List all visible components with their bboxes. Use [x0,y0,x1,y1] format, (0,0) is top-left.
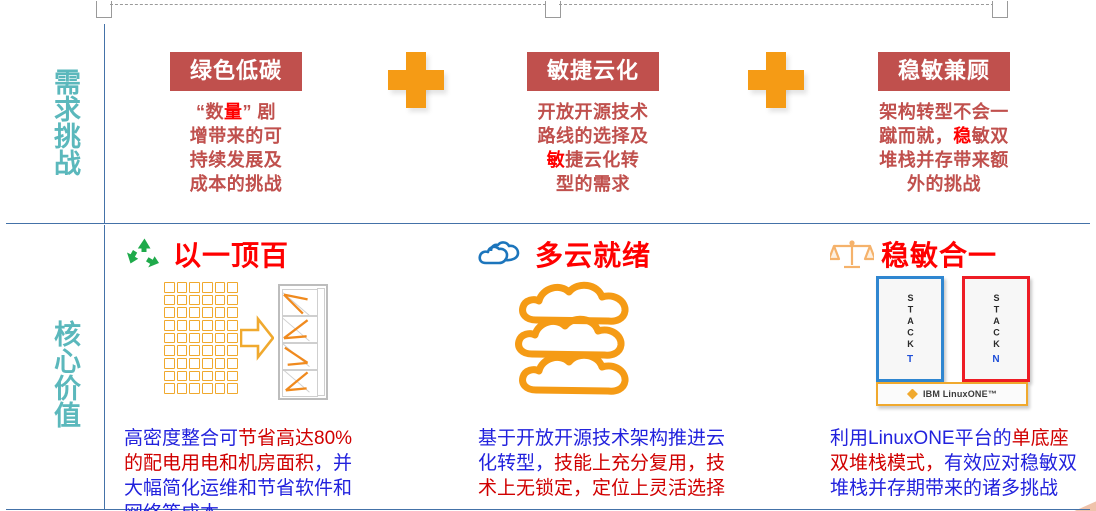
challenge-text-segment: ” 剧 [242,102,276,122]
section-divider-horizontal [6,223,1090,224]
server-unit [202,307,213,318]
server-unit [227,358,238,369]
server-unit [202,371,213,382]
value-header: 多云就绪 [478,236,728,276]
server-unit [177,383,188,394]
challenge-text-line: 外的挑战 [878,172,1010,196]
server-unit [164,320,175,331]
challenge-highlight: 稳 [953,126,972,146]
challenge-title-banner: 稳敏兼顾 [878,52,1010,91]
server-unit [177,282,188,293]
challenge-text-line: 增带来的可 [170,124,302,148]
value-title: 以一顶百 [173,242,289,270]
server-unit [189,282,200,293]
server-unit [227,295,238,306]
challenge-text-line: 路线的选择及 [527,124,659,148]
value-column-multicloud-ready: 多云就绪 基于开放开源技术架构推进云化转型，技能上充分复用，技术上无锁定，定位上… [478,236,728,501]
server-unit [189,320,200,331]
section-label-core-values: 核心价值 [26,320,82,428]
server-unit [202,320,213,331]
value-column-stable-agile-unified: 稳敏合一 STACK T STACK N IBM LinuxONE™ 利用Lin… [830,236,1080,501]
challenge-text-line: 持续发展及 [170,148,302,172]
server-farm-grid [164,282,238,394]
challenge-body-text: 架构转型不会一 蹴而就，稳敏双 堆栈并存带来额 外的挑战 [878,100,1010,196]
value-title: 多云就绪 [535,242,651,270]
spine-divider-top [104,24,105,224]
triple-cloud-illustration [508,278,698,408]
stack-n-tag: N [992,354,999,365]
server-unit [215,371,226,382]
server-unit [202,333,213,344]
challenge-text-segment: “数 [196,102,224,122]
challenge-title-banner: 绿色低碳 [170,52,302,91]
server-unit [164,295,175,306]
plus-icon-2 [748,52,804,108]
stacked-clouds-art [478,276,728,426]
server-unit [227,383,238,394]
challenge-text-line: 堆栈并存带来额 [878,148,1010,172]
server-unit [189,358,200,369]
challenge-card-stable-agile: 稳敏兼顾 架构转型不会一 蹴而就，稳敏双 堆栈并存带来额 外的挑战 [878,52,1010,196]
server-unit [164,282,175,293]
challenge-highlight: 量 [224,102,243,122]
server-unit [215,333,226,344]
linuxone-logo-icon [907,389,918,400]
linuxone-base-label: IBM LinuxONE™ [923,389,997,399]
server-unit [202,358,213,369]
server-unit [189,383,200,394]
consolidated-rack [278,284,328,400]
stack-t-tag: T [907,354,913,365]
challenge-body-text: 开放开源技术 路线的选择及 敏捷云化转 型的需求 [527,100,659,196]
dual-stack-linuxone-art: STACK T STACK N IBM LinuxONE™ [830,276,1080,426]
server-unit [177,345,188,356]
bracket-cap-right [992,1,1008,18]
server-unit [215,295,226,306]
challenge-text-line: 架构转型不会一 [878,100,1010,124]
recycle-icon [124,236,166,277]
measure-bracket [96,1,1008,17]
server-unit [215,345,226,356]
linuxone-base-bar: IBM LinuxONE™ [876,382,1028,406]
value-description: 利用LinuxONE平台的单底座双堆栈模式，有效应对稳敏双堆栈并存期带来的诸多挑… [830,426,1080,501]
server-unit [215,320,226,331]
server-unit [164,333,175,344]
server-unit [202,383,213,394]
server-unit [189,333,200,344]
server-unit [177,295,188,306]
section-label-challenges: 需求挑战 [26,68,82,176]
server-consolidation-art [124,276,364,426]
server-unit [189,345,200,356]
spine-divider-bottom [104,225,105,510]
challenge-text-line: 开放开源技术 [527,100,659,124]
server-unit [227,371,238,382]
challenge-highlight: 敏 [547,150,566,170]
server-unit [202,295,213,306]
server-unit [177,307,188,318]
challenge-body-text: “数量” 剧 增带来的可 持续发展及 成本的挑战 [170,100,302,196]
server-unit [164,383,175,394]
value-column-one-over-hundred: 以一顶百 [124,236,364,511]
challenge-card-agile-cloud: 敏捷云化 开放开源技术 路线的选择及 敏捷云化转 型的需求 [527,52,659,196]
server-unit [177,358,188,369]
plus-icon-1 [388,52,444,108]
challenge-title-banner: 敏捷云化 [527,52,659,91]
bracket-dash-left [110,4,546,5]
server-unit [227,320,238,331]
challenge-text-line: 成本的挑战 [170,172,302,196]
stack-t-card: STACK T [876,276,944,382]
value-title: 稳敏合一 [881,242,997,270]
slide-canvas: 需求挑战 核心价值 绿色低碳 “数量” 剧 增带来的可 持续发展及 成本的挑战 … [0,0,1096,511]
stack-n-word: STACK [992,293,1001,351]
bracket-dash-right [559,4,994,5]
server-unit [215,358,226,369]
balance-scale-icon [830,237,874,276]
server-unit [177,320,188,331]
desc-segment: 高密度整合可 [124,428,238,449]
server-unit [227,282,238,293]
value-header: 以一顶百 [124,236,364,276]
server-unit [202,345,213,356]
server-unit [164,371,175,382]
stack-t-word: STACK [906,293,915,351]
challenge-text-line: 型的需求 [527,172,659,196]
value-description: 高密度整合可节省高达80%的配电用电和机房面积，并大幅简化运维和节省软件和网络等… [124,426,364,511]
challenge-card-green-low-carbon: 绿色低碳 “数量” 剧 增带来的可 持续发展及 成本的挑战 [170,52,302,196]
challenge-text-segment: 敏双 [972,126,1009,146]
challenge-text-segment: 捷云化转 [565,150,639,170]
server-unit [227,307,238,318]
arrow-right-icon [240,314,274,362]
server-unit [189,295,200,306]
server-unit [227,345,238,356]
cloud-icon [478,240,528,273]
challenge-text-segment: 蹴而就， [879,126,953,146]
server-unit [189,307,200,318]
stack-n-card: STACK N [962,276,1030,382]
desc-segment: 利用LinuxONE平台的 [830,428,1012,449]
server-unit [215,282,226,293]
server-unit [227,333,238,344]
server-unit [164,307,175,318]
server-unit [164,358,175,369]
value-description: 基于开放开源技术架构推进云化转型，技能上充分复用，技术上无锁定，定位上灵活选择 [478,426,728,501]
server-unit [189,371,200,382]
server-unit [202,282,213,293]
server-unit [177,333,188,344]
server-unit [164,345,175,356]
server-unit [215,383,226,394]
server-unit [177,371,188,382]
value-header: 稳敏合一 [830,236,1080,276]
server-unit [215,307,226,318]
